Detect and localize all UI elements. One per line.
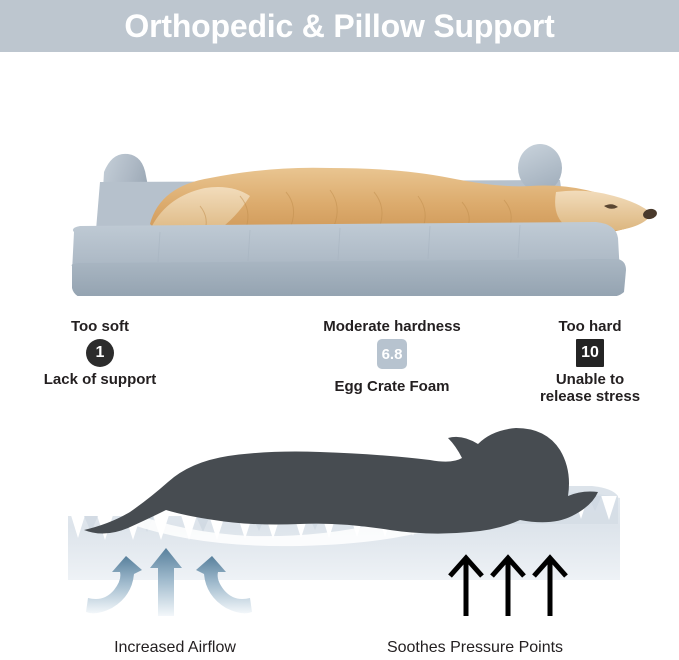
product-photo bbox=[0, 56, 679, 296]
scale-marker-2: 6.8 bbox=[377, 339, 407, 369]
bolster-right bbox=[518, 144, 562, 192]
scale-marker-1: 1 bbox=[86, 339, 114, 367]
scale-bottom-label-2: Egg Crate Foam bbox=[334, 378, 449, 395]
scale-top-label-1: Too soft bbox=[71, 318, 129, 335]
scale-point-too-soft: Too soft 1 Lack of support bbox=[0, 318, 200, 388]
caption-increased-airflow: Increased Airflow bbox=[55, 638, 295, 658]
caption-soothes-pressure-points: Soothes Pressure Points bbox=[350, 638, 600, 658]
scale-bottom-label-3-line1: Unable to bbox=[540, 371, 640, 388]
scale-bottom-label-3-line2: release stress bbox=[540, 388, 640, 405]
scale-marker-3: 10 bbox=[576, 339, 604, 367]
dog-bed-illustration bbox=[0, 56, 679, 296]
scale-point-moderate: Moderate hardness 6.8 Egg Crate Foam bbox=[292, 318, 492, 395]
scale-point-too-hard: Too hard 10 Unable to release stress bbox=[490, 318, 679, 405]
bed-base bbox=[72, 259, 626, 296]
scale-bottom-label-1: Lack of support bbox=[44, 371, 157, 388]
scale-bottom-label-3: Unable to release stress bbox=[540, 371, 640, 405]
scale-top-label-3: Too hard bbox=[558, 318, 621, 335]
scale-top-label-2: Moderate hardness bbox=[323, 318, 461, 335]
foam-illustration bbox=[0, 420, 679, 620]
infographic-root: Orthopedic & Pillow Support bbox=[0, 0, 679, 660]
dog-on-bed-graphic bbox=[0, 56, 679, 296]
pressure-arrows bbox=[450, 558, 566, 616]
page-title: Orthopedic & Pillow Support bbox=[0, 0, 679, 52]
hardness-scale: Too soft 1 Lack of support Moderate hard… bbox=[0, 318, 679, 420]
egg-crate-foam-graphic bbox=[0, 420, 679, 620]
